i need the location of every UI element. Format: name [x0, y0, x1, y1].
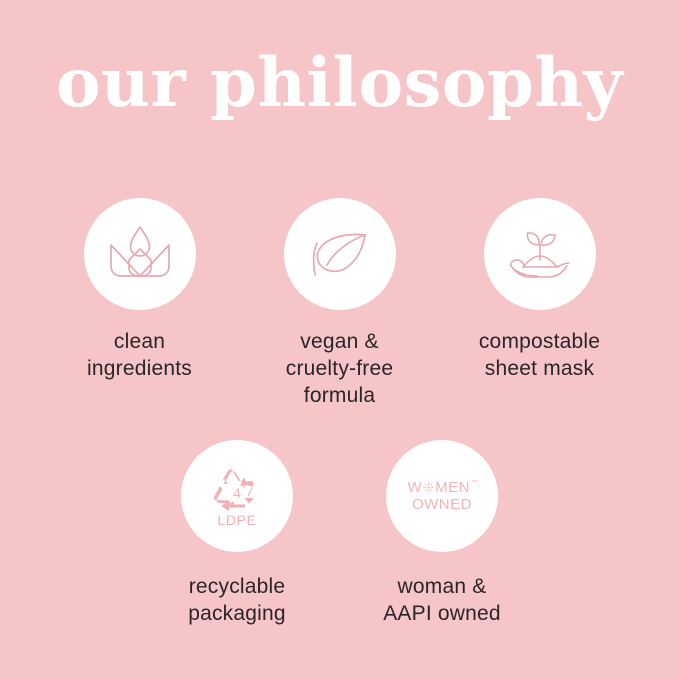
icon-circle: 4 LDPE — [181, 440, 293, 552]
trademark-mark: ™ — [471, 480, 478, 486]
women-owned-icon: W — [407, 480, 476, 512]
badge-caption: woman & AAPI owned — [383, 573, 501, 627]
badge-row-top: clean ingredients vegan & cruelty-free f… — [0, 198, 679, 409]
icon-circle: W — [386, 440, 498, 552]
badge-row-bottom: 4 LDPE recyclable packaging W — [0, 440, 679, 627]
icon-circle — [284, 198, 396, 310]
badge-caption: clean ingredients — [87, 328, 192, 382]
badge-compostable-sheet-mask[interactable]: compostable sheet mask — [440, 198, 640, 382]
page-title: our philosophy — [0, 44, 679, 122]
women-owned-w: W — [407, 480, 422, 495]
icon-circle — [84, 198, 196, 310]
leaf-icon — [301, 215, 379, 293]
badge-clean-ingredients[interactable]: clean ingredients — [40, 198, 240, 382]
philosophy-infographic: our philosophy cle — [0, 0, 679, 679]
lotus-droplet-icon — [101, 215, 179, 293]
women-owned-men: MEN — [435, 480, 470, 495]
recycle-material-label: LDPE — [218, 512, 257, 528]
recycle-ldpe-icon: 4 LDPE — [200, 459, 274, 533]
flower-burst-icon — [422, 481, 435, 494]
badge-woman-aapi-owned[interactable]: W — [340, 440, 545, 627]
icon-circle — [484, 198, 596, 310]
recycle-number: 4 — [233, 485, 241, 501]
badge-recyclable-packaging[interactable]: 4 LDPE recyclable packaging — [135, 440, 340, 627]
women-owned-line-2: OWNED — [412, 497, 472, 512]
badge-caption: compostable sheet mask — [479, 328, 600, 382]
hand-sprout-icon — [501, 215, 579, 293]
badge-caption: vegan & cruelty-free formula — [286, 328, 393, 409]
badge-vegan-cruelty-free[interactable]: vegan & cruelty-free formula — [240, 198, 440, 409]
women-owned-line-1: W — [407, 480, 476, 495]
badge-caption: recyclable packaging — [188, 573, 286, 627]
